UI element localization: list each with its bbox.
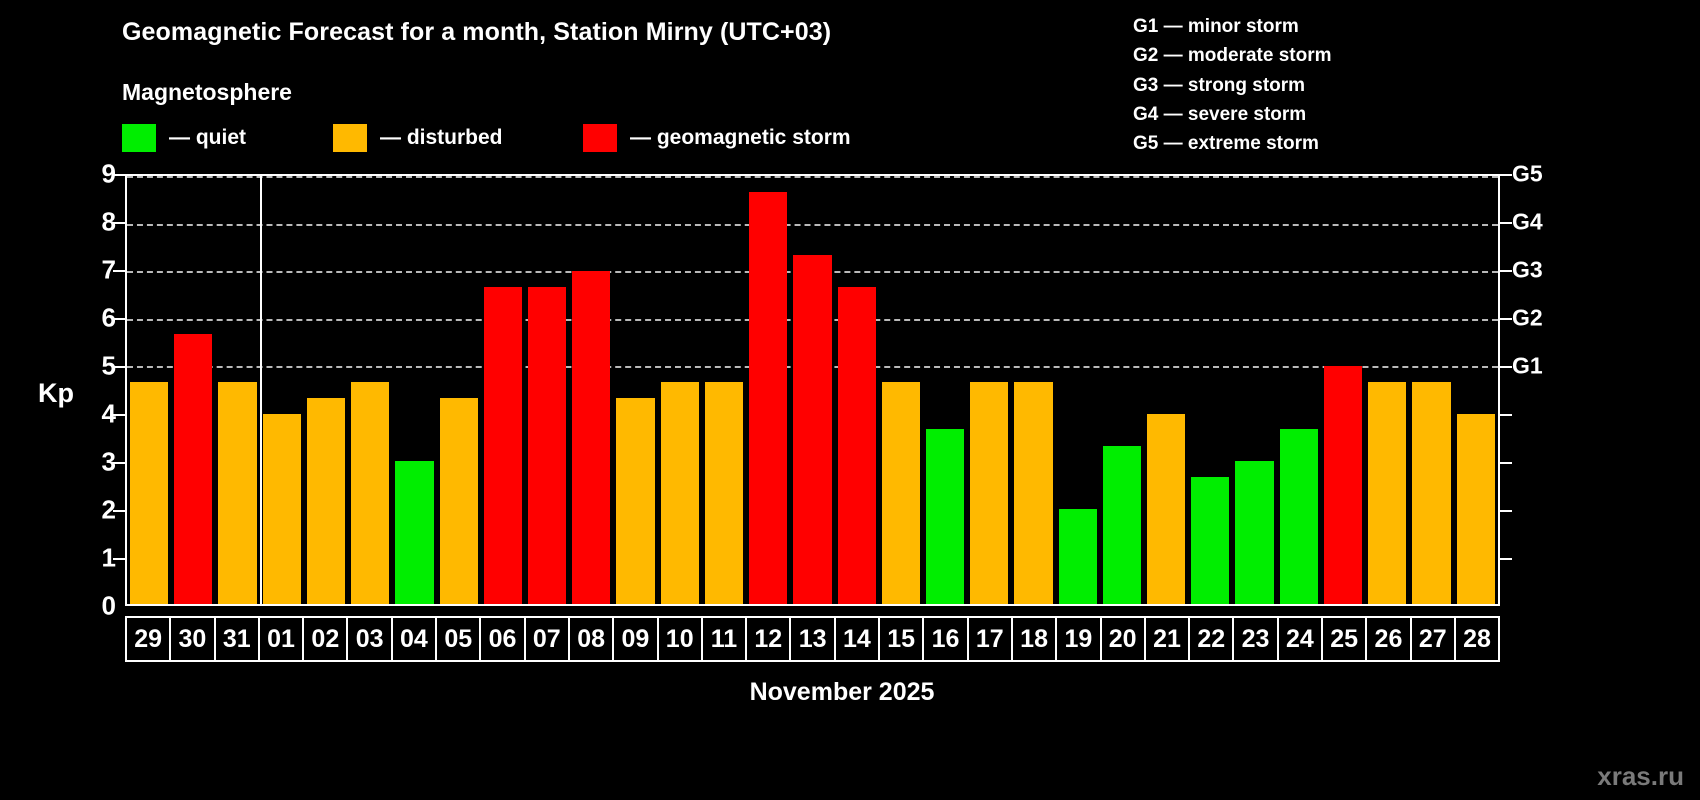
x-axis-day-15: 15: [878, 616, 924, 662]
x-axis-day-28: 28: [1454, 616, 1500, 662]
bar-slot: [923, 176, 967, 604]
bar-slot: [348, 176, 392, 604]
legend-label-storm: — geomagnetic storm: [630, 126, 851, 150]
bar-day-13: [793, 255, 831, 604]
g-scale-row-1: G1 — minor storm: [1133, 12, 1332, 41]
bar-day-09: [616, 398, 654, 604]
x-axis-day-14: 14: [834, 616, 880, 662]
bar-day-10: [661, 382, 699, 604]
bar-day-18: [1014, 382, 1052, 604]
bar-slot: [569, 176, 613, 604]
y-tick-1: [113, 558, 125, 560]
g-tick-kp-5: [1500, 366, 1512, 368]
x-axis-day-12: 12: [745, 616, 791, 662]
bar-day-30: [174, 334, 212, 604]
x-axis-day-25: 25: [1321, 616, 1367, 662]
x-axis-day-31: 31: [214, 616, 260, 662]
g-scale-row-4: G4 — severe storm: [1133, 100, 1332, 129]
bar-slot: [1409, 176, 1453, 604]
bar-slot: [1144, 176, 1188, 604]
bar-day-19: [1059, 509, 1097, 604]
x-axis-day-02: 02: [302, 616, 348, 662]
bar-day-16: [926, 429, 964, 604]
x-axis-day-18: 18: [1011, 616, 1057, 662]
x-axis-day-11: 11: [701, 616, 747, 662]
legend-swatch-quiet: [122, 124, 156, 152]
x-axis-day-29: 29: [125, 616, 171, 662]
g-tick-kp-8: [1500, 222, 1512, 224]
g-axis-label-G1: G1: [1512, 353, 1543, 380]
x-axis-day-24: 24: [1277, 616, 1323, 662]
legend-swatch-storm: [583, 124, 617, 152]
y-axis-title: Kp: [38, 378, 74, 409]
x-axis-day-05: 05: [435, 616, 481, 662]
bar-day-28: [1457, 414, 1495, 604]
bar-slot: [1277, 176, 1321, 604]
bar-slot: [392, 176, 436, 604]
g-axis-label-G2: G2: [1512, 304, 1543, 331]
bar-day-14: [838, 287, 876, 604]
bar-day-11: [705, 382, 743, 604]
g-axis-label-G5: G5: [1512, 161, 1543, 188]
y-tick-5: [113, 366, 125, 368]
legend-item-storm: — geomagnetic storm: [583, 123, 851, 153]
bar-slot: [171, 176, 215, 604]
bar-slot: [437, 176, 481, 604]
y-axis-labels: 0123456789: [76, 174, 116, 606]
geomagnetic-forecast-chart: Geomagnetic Forecast for a month, Statio…: [0, 0, 1700, 800]
bar-slot: [835, 176, 879, 604]
x-axis-day-21: 21: [1144, 616, 1190, 662]
bar-day-20: [1103, 446, 1141, 604]
legend-label-disturbed: — disturbed: [380, 126, 503, 150]
y-tick-3: [113, 462, 125, 464]
bar-day-21: [1147, 414, 1185, 604]
x-axis-day-03: 03: [346, 616, 392, 662]
bar-slot: [658, 176, 702, 604]
bar-day-01: [263, 414, 301, 604]
g-axis-labels: G1G2G3G4G5: [1512, 174, 1572, 606]
bar-day-05: [440, 398, 478, 604]
bar-slot: [1232, 176, 1276, 604]
g-scale-row-3: G3 — strong storm: [1133, 71, 1332, 100]
x-axis-day-04: 04: [391, 616, 437, 662]
g-tick-kp-3: [1500, 462, 1512, 464]
bar-slot: [1056, 176, 1100, 604]
g-tick-kp-9: [1500, 174, 1512, 176]
x-axis-day-08: 08: [568, 616, 614, 662]
bar-day-29: [130, 382, 168, 604]
bar-slot: [525, 176, 569, 604]
page-title: Geomagnetic Forecast for a month, Statio…: [122, 18, 831, 47]
bar-slot: [879, 176, 923, 604]
bar-slot: [1365, 176, 1409, 604]
y-tick-9: [113, 174, 125, 176]
bar-slot: [967, 176, 1011, 604]
x-axis-day-17: 17: [967, 616, 1013, 662]
bar-day-12: [749, 192, 787, 604]
bar-day-17: [970, 382, 1008, 604]
bar-day-07: [528, 287, 566, 604]
y-tick-6: [113, 318, 125, 320]
bar-slot: [1011, 176, 1055, 604]
x-axis-day-06: 06: [479, 616, 525, 662]
bar-day-25: [1324, 366, 1362, 604]
legend-swatch-disturbed: [333, 124, 367, 152]
plot-area: [125, 174, 1500, 606]
bar-slot: [481, 176, 525, 604]
g-tick-kp-4: [1500, 414, 1512, 416]
x-axis-day-13: 13: [789, 616, 835, 662]
bar-series: [127, 176, 1498, 604]
bar-slot: [613, 176, 657, 604]
legend-label-quiet: — quiet: [169, 126, 246, 150]
x-axis-day-20: 20: [1100, 616, 1146, 662]
x-axis-day-10: 10: [657, 616, 703, 662]
x-axis-day-30: 30: [169, 616, 215, 662]
bar-day-24: [1280, 429, 1318, 604]
bar-slot: [127, 176, 171, 604]
g-axis-label-G3: G3: [1512, 257, 1543, 284]
bar-day-22: [1191, 477, 1229, 604]
bar-day-27: [1412, 382, 1450, 604]
x-axis-day-09: 09: [612, 616, 658, 662]
x-axis-day-16: 16: [922, 616, 968, 662]
bar-slot: [215, 176, 259, 604]
x-axis-day-01: 01: [258, 616, 304, 662]
g-scale-row-2: G2 — moderate storm: [1133, 41, 1332, 70]
y-tick-7: [113, 270, 125, 272]
magnetosphere-label: Magnetosphere: [122, 79, 292, 106]
x-axis-day-labels: 2930310102030405060708091011121314151617…: [125, 616, 1500, 662]
bar-day-03: [351, 382, 389, 604]
bar-slot: [1454, 176, 1498, 604]
bar-day-06: [484, 287, 522, 604]
bar-slot: [790, 176, 834, 604]
x-axis-day-27: 27: [1410, 616, 1456, 662]
bar-slot: [1321, 176, 1365, 604]
x-axis-day-07: 07: [524, 616, 570, 662]
x-axis-title: November 2025: [0, 678, 1700, 707]
x-axis-day-23: 23: [1232, 616, 1278, 662]
g-tick-kp-1: [1500, 558, 1512, 560]
x-axis-day-26: 26: [1365, 616, 1411, 662]
bar-day-31: [218, 382, 256, 604]
bar-day-23: [1235, 461, 1273, 604]
g-axis-label-G4: G4: [1512, 209, 1543, 236]
bar-day-02: [307, 398, 345, 604]
g-tick-kp-2: [1500, 510, 1512, 512]
bar-slot: [304, 176, 348, 604]
y-tick-4: [113, 414, 125, 416]
bar-slot: [260, 176, 304, 604]
x-axis-day-19: 19: [1055, 616, 1101, 662]
watermark: xras.ru: [1597, 761, 1684, 792]
y-tick-2: [113, 510, 125, 512]
g-tick-kp-7: [1500, 270, 1512, 272]
bar-day-26: [1368, 382, 1406, 604]
bar-slot: [702, 176, 746, 604]
legend-item-quiet: — quiet: [122, 123, 246, 153]
bar-slot: [1188, 176, 1232, 604]
bar-day-04: [395, 461, 433, 604]
y-tick-label-0: 0: [102, 591, 116, 622]
g-scale-legend: G1 — minor stormG2 — moderate stormG3 — …: [1133, 12, 1332, 158]
bar-slot: [1100, 176, 1144, 604]
g-scale-row-5: G5 — extreme storm: [1133, 129, 1332, 158]
legend-item-disturbed: — disturbed: [333, 123, 503, 153]
x-axis-day-22: 22: [1188, 616, 1234, 662]
g-tick-kp-6: [1500, 318, 1512, 320]
bar-slot: [746, 176, 790, 604]
bar-day-15: [882, 382, 920, 604]
y-tick-8: [113, 222, 125, 224]
bar-day-08: [572, 271, 610, 604]
